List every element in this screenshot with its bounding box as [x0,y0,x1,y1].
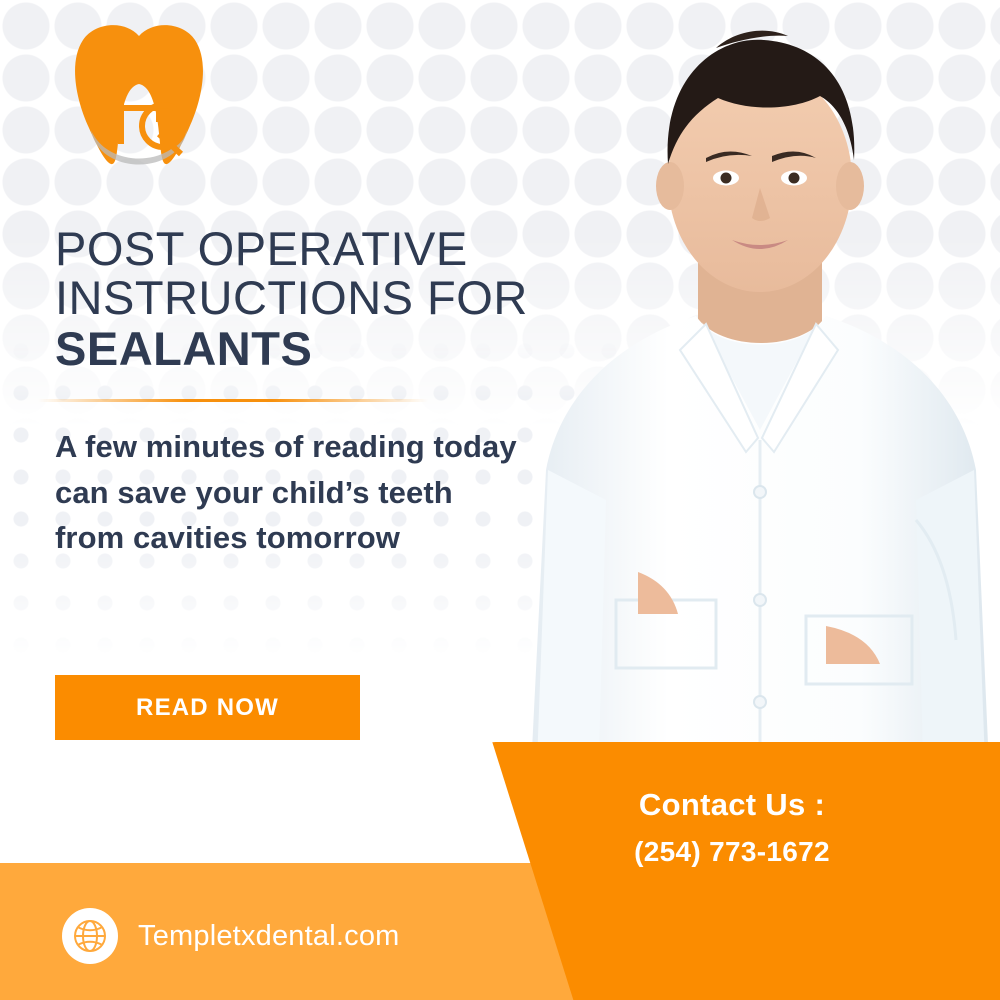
read-now-button[interactable]: READ NOW [55,675,360,740]
dentist-photo [520,0,1000,790]
title-divider [38,399,428,402]
contact-phone-number[interactable]: (254) 773-1672 [522,836,942,868]
globe-icon [62,908,118,964]
subheading: A few minutes of reading today can save … [55,424,525,561]
headline-line-1: POST OPERATIVE [55,225,528,274]
website-url[interactable]: Templetxdental.com [138,920,400,953]
contact-block: Contact Us : (254) 773-1672 [522,788,942,868]
page-title: POST OPERATIVE INSTRUCTIONS FOR SEALANTS [55,225,528,374]
tooth-shape-icon [75,25,203,164]
poster-canvas: POST OPERATIVE INSTRUCTIONS FOR SEALANTS… [0,0,1000,1000]
contact-us-label: Contact Us : [522,788,942,822]
website-row[interactable]: Templetxdental.com [62,908,400,964]
brand-logo[interactable] [55,22,223,182]
headline-line-3: SEALANTS [55,325,528,374]
headline-line-2: INSTRUCTIONS FOR [55,274,528,323]
